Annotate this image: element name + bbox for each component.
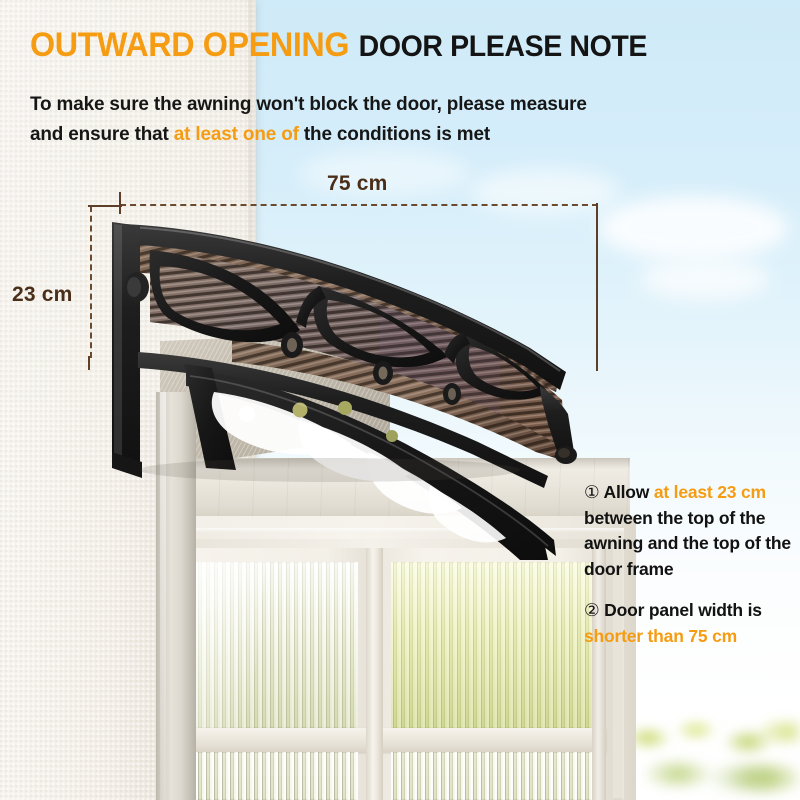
dimension-tick-top xyxy=(119,192,121,214)
page-subtitle: To make sure the awning won't block the … xyxy=(30,90,709,149)
dimension-tick-bottom xyxy=(88,356,90,370)
dimension-label-width: 75 cm xyxy=(327,172,388,196)
condition-1-seg-0: Allow xyxy=(600,482,654,502)
dimension-label-height: 23 cm xyxy=(12,283,73,307)
subtitle-highlight: at least one of xyxy=(174,123,299,145)
wall-post-highlight xyxy=(114,224,122,462)
dimension-line-height xyxy=(90,206,92,358)
awning-cast-shadow xyxy=(140,458,520,482)
condition-marker-2: ② xyxy=(584,600,600,620)
awning-mount-boss-inner xyxy=(127,277,141,297)
condition-item-2: ② Door panel width is shorter than 75 cm xyxy=(584,598,796,649)
subtitle-line2-a: and ensure that xyxy=(30,123,174,145)
condition-marker-1: ① xyxy=(584,482,600,502)
condition-2-seg-0: Door panel width is xyxy=(600,600,762,620)
page-title: OUTWARD OPENINGDOOR PLEASE NOTE xyxy=(30,28,647,62)
title-highlight: OUTWARD OPENING xyxy=(30,26,349,64)
condition-2-seg-1: shorter than 75 cm xyxy=(584,626,737,646)
dimension-extension-right xyxy=(596,203,598,371)
condition-1-seg-1: at least 23 cm xyxy=(654,482,766,502)
conditions-list: ① Allow at least 23 cm between the top o… xyxy=(584,480,796,649)
title-rest: DOOR PLEASE NOTE xyxy=(359,30,647,63)
subtitle-line2-b: the conditions is met xyxy=(299,123,490,145)
awning-tip-cap-inner xyxy=(558,448,570,458)
condition-item-1: ① Allow at least 23 cm between the top o… xyxy=(584,480,796,583)
dimension-line-width xyxy=(120,204,598,206)
infographic-scene: 75 cm 23 cm OUTWARD OPENINGDOOR PLEASE N… xyxy=(0,0,800,800)
condition-1-seg-2: between the top of the awning and the to… xyxy=(584,508,791,579)
dimension-tick-left xyxy=(88,205,122,207)
subtitle-line1: To make sure the awning won't block the … xyxy=(30,93,587,115)
